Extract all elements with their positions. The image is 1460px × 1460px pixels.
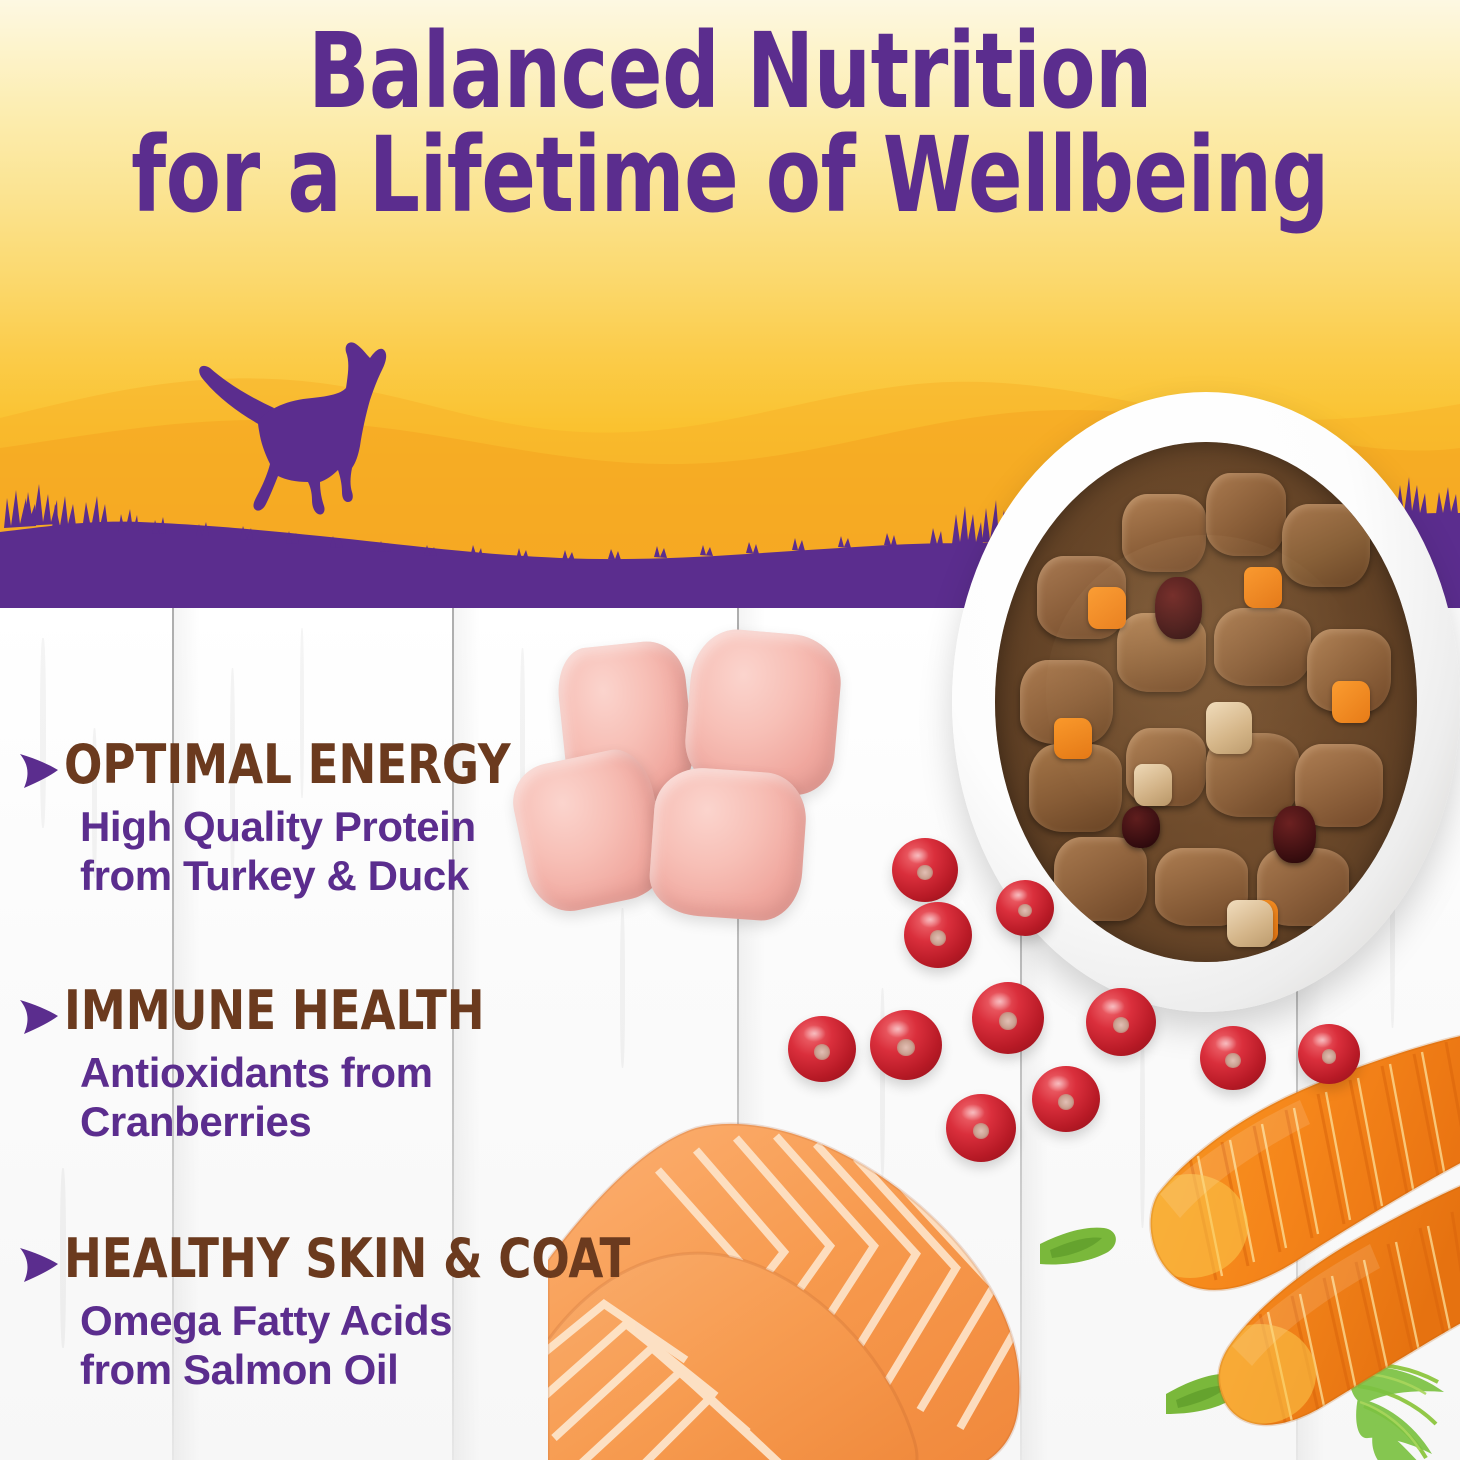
benefit-description: Omega Fatty Acids from Salmon Oil [80, 1296, 654, 1394]
cranberry [788, 1016, 856, 1082]
benefit-item-optimal-energy: OPTIMAL ENERGY High Quality Protein from… [14, 732, 654, 900]
cranberry [996, 880, 1054, 936]
headline-line-2: for a Lifetime of Wellbeing [102, 126, 1358, 226]
benefit-description-line-2: from Turkey & Duck [80, 851, 654, 900]
benefit-description-line-1: Omega Fatty Acids [80, 1296, 654, 1345]
benefit-description: High Quality Protein from Turkey & Duck [80, 802, 654, 900]
fresh-cranberries [780, 830, 1420, 1170]
benefit-title: IMMUNE HEALTH [64, 978, 485, 1038]
cranberry [1298, 1024, 1360, 1084]
triangle-right-icon [14, 1242, 60, 1288]
benefit-title: OPTIMAL ENERGY [64, 732, 511, 792]
dog-silhouette-icon [140, 340, 490, 562]
cranberry [1032, 1066, 1100, 1132]
page-headline: Balanced Nutrition for a Lifetime of Wel… [0, 22, 1460, 226]
cranberry [1086, 988, 1156, 1056]
headline-line-1: Balanced Nutrition [102, 22, 1358, 122]
benefit-item-immune-health: IMMUNE HEALTH Antioxidants from Cranberr… [14, 978, 654, 1146]
benefit-description-line-1: High Quality Protein [80, 802, 654, 851]
cranberry [946, 1094, 1016, 1162]
benefit-description: Antioxidants from Cranberries [80, 1048, 654, 1146]
benefit-description-line-1: Antioxidants from [80, 1048, 654, 1097]
cranberry [972, 982, 1044, 1054]
benefit-description-line-2: from Salmon Oil [80, 1345, 654, 1394]
benefit-item-healthy-skin-coat: HEALTHY SKIN & COAT Omega Fatty Acids fr… [14, 1226, 654, 1394]
cranberry [1200, 1026, 1266, 1090]
cranberry [870, 1010, 942, 1080]
triangle-right-icon [14, 994, 60, 1040]
product-banner: Balanced Nutrition for a Lifetime of Wel… [0, 0, 1460, 1460]
triangle-right-icon [14, 748, 60, 794]
benefit-description-line-2: Cranberries [80, 1097, 654, 1146]
cranberry [892, 838, 958, 902]
cranberry [904, 902, 972, 968]
benefit-title: HEALTHY SKIN & COAT [64, 1226, 630, 1286]
